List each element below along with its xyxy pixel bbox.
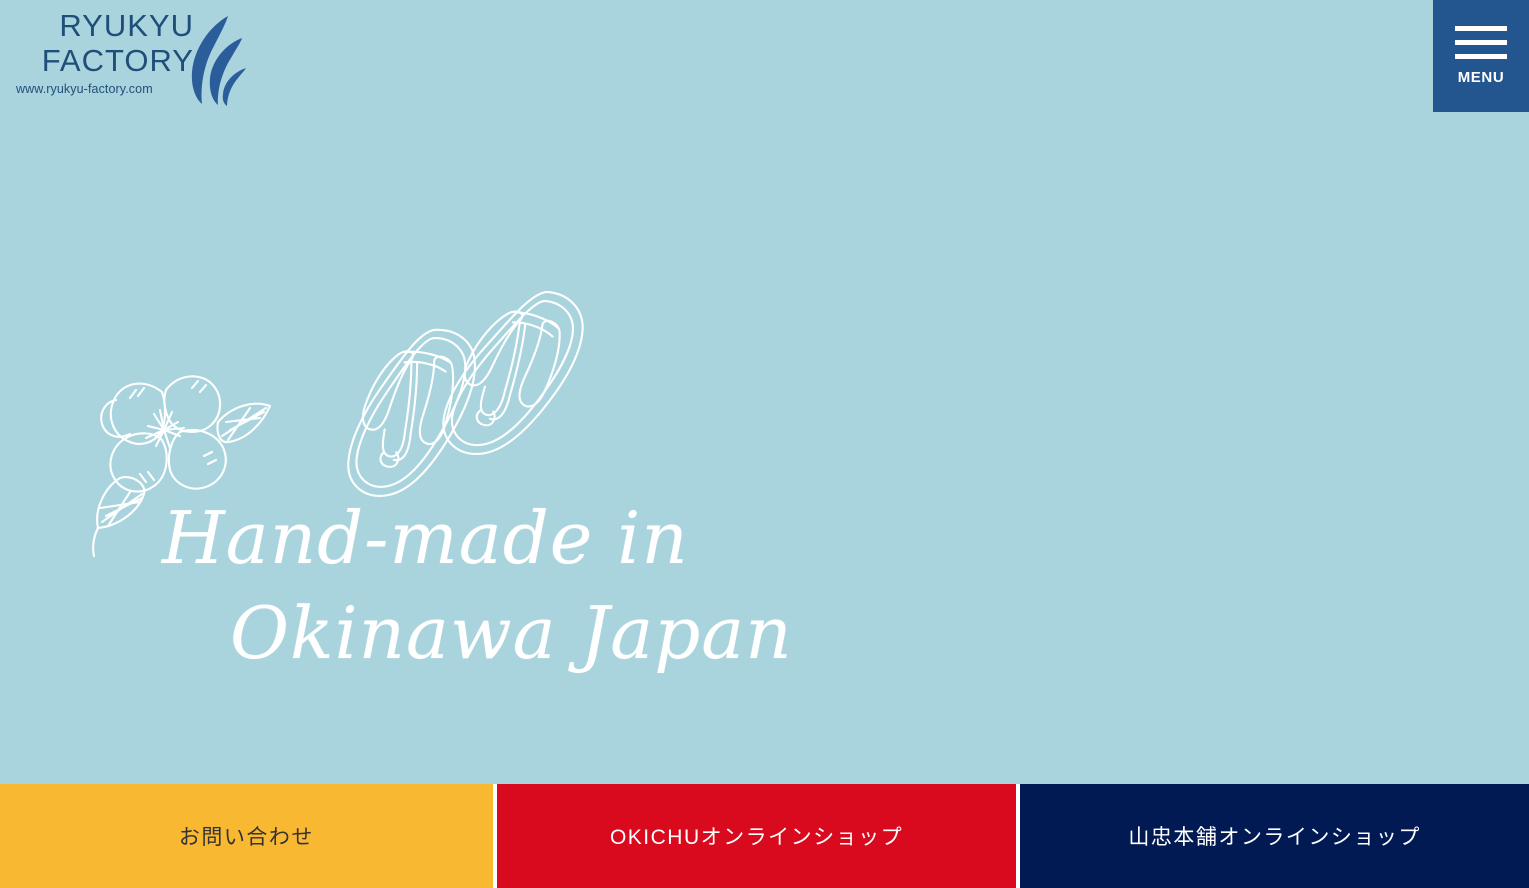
logo-wordmark: RYUKYU FACTORY www.ryukyu-factory.com [16, 10, 196, 96]
hero-title-line-2: Okinawa Japan [150, 593, 770, 674]
hamburger-icon [1455, 26, 1507, 60]
logo-url-text: www.ryukyu-factory.com [16, 83, 196, 96]
hamburger-bar-2 [1455, 40, 1507, 45]
okichu-online-shop-label: OKICHUオンラインショップ [610, 821, 903, 851]
hamburger-bar-1 [1455, 26, 1507, 31]
hero-title-line-1: Hand-made in [150, 498, 770, 579]
menu-label: MENU [1458, 69, 1505, 86]
yamachu-honpo-online-shop-label: 山忠本舗オンラインショップ [1128, 821, 1421, 851]
hero-title: Hand-made in Okinawa Japan [150, 498, 770, 673]
hamburger-bar-3 [1455, 54, 1507, 59]
logo-line-ryukyu: RYUKYU [16, 10, 196, 41]
menu-button[interactable]: MENU [1433, 0, 1529, 112]
logo-line-factory: FACTORY [16, 45, 196, 76]
yamachu-honpo-online-shop-button[interactable]: 山忠本舗オンラインショップ [1020, 784, 1529, 888]
okichu-online-shop-button[interactable]: OKICHUオンラインショップ [497, 784, 1017, 888]
contact-button-label: お問い合わせ [179, 821, 314, 851]
three-leaf-wave-icon [184, 14, 248, 106]
flip-flop-sandal-left-icon [339, 313, 487, 514]
site-logo[interactable]: RYUKYU FACTORY www.ryukyu-factory.com [16, 10, 276, 105]
flip-flop-sandal-right-icon [432, 271, 597, 478]
contact-button[interactable]: お問い合わせ [0, 784, 493, 888]
bottom-action-bar: お問い合わせ OKICHUオンラインショップ 山忠本舗オンラインショップ [0, 784, 1529, 888]
